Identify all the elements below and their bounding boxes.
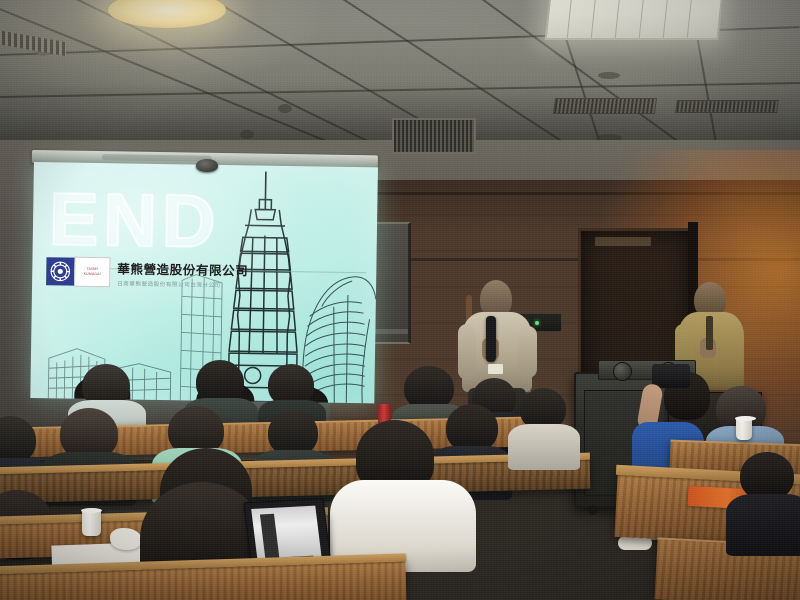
slide-company-names: 華熊營造股份有限公司 日商華熊營造股份有限公司台灣分公司	[117, 258, 248, 289]
second-presenter-tie	[706, 316, 713, 350]
head	[740, 452, 794, 500]
audience-area	[0, 360, 800, 600]
company-subtitle: 日商華熊營造股份有限公司台灣分公司	[117, 279, 248, 289]
gear-emblem-icon	[46, 257, 74, 285]
torso	[508, 424, 580, 470]
laptop-content-main	[260, 514, 280, 562]
logo-wordmark-line2: KUMAGAI	[84, 272, 101, 277]
logo-wordmark-box: TAISEI KUMAGAI	[74, 257, 110, 288]
handheld-microphone-icon	[486, 316, 496, 362]
housing-label	[102, 154, 212, 162]
dome-camera-icon	[196, 159, 218, 172]
crumpled-tissue	[110, 528, 142, 550]
wall-air-vent	[392, 118, 476, 154]
gear-emblem-svg	[48, 259, 72, 283]
photographer-camera-icon	[652, 364, 690, 388]
door-sign	[595, 237, 651, 246]
slide-company-logo-row: TAISEI KUMAGAI 華熊營造股份有限公司 日商華熊營造股份有限公司台灣…	[46, 256, 248, 289]
paper-cup[interactable]	[82, 510, 101, 536]
paper-cup-right	[736, 418, 752, 440]
slide-headline: END	[49, 184, 221, 257]
torso	[726, 494, 800, 556]
av-led-indicator-3	[535, 321, 539, 325]
head	[446, 404, 498, 452]
company-name: 華熊營造股份有限公司	[117, 258, 248, 279]
wall-trim-upper	[330, 192, 800, 195]
photo-scene: END	[0, 0, 800, 600]
